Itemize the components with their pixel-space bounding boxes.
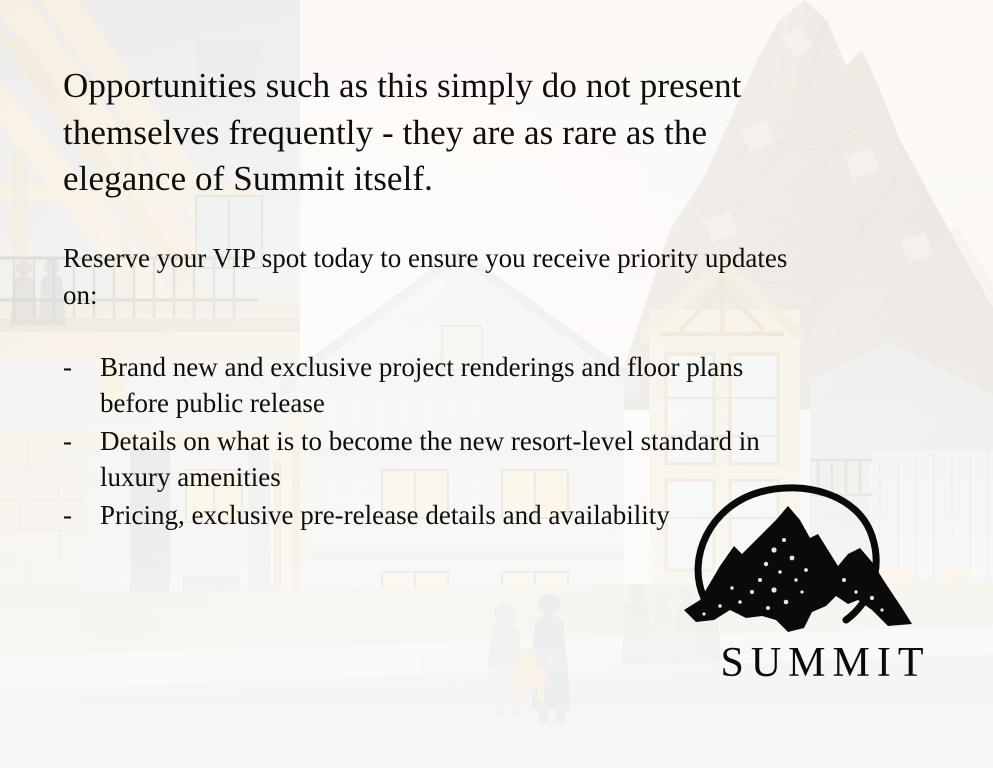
logo-wordmark: SUMMIT — [698, 642, 946, 684]
subheadline-text: Reserve your VIP spot today to ensure yo… — [63, 240, 823, 313]
mountain-circle-icon — [676, 480, 922, 640]
list-item: - Brand new and exclusive project render… — [63, 350, 803, 422]
bullet-marker: - — [63, 424, 100, 460]
slide-content: Opportunities such as this simply do not… — [0, 0, 993, 768]
marketing-slide: Opportunities such as this simply do not… — [0, 0, 993, 768]
list-item-label: Brand new and exclusive project renderin… — [100, 350, 803, 422]
headline-text: Opportunities such as this simply do not… — [63, 63, 823, 203]
bullet-marker: - — [63, 350, 100, 386]
summit-logo: SUMMIT — [676, 480, 946, 705]
bullet-marker: - — [63, 498, 100, 534]
